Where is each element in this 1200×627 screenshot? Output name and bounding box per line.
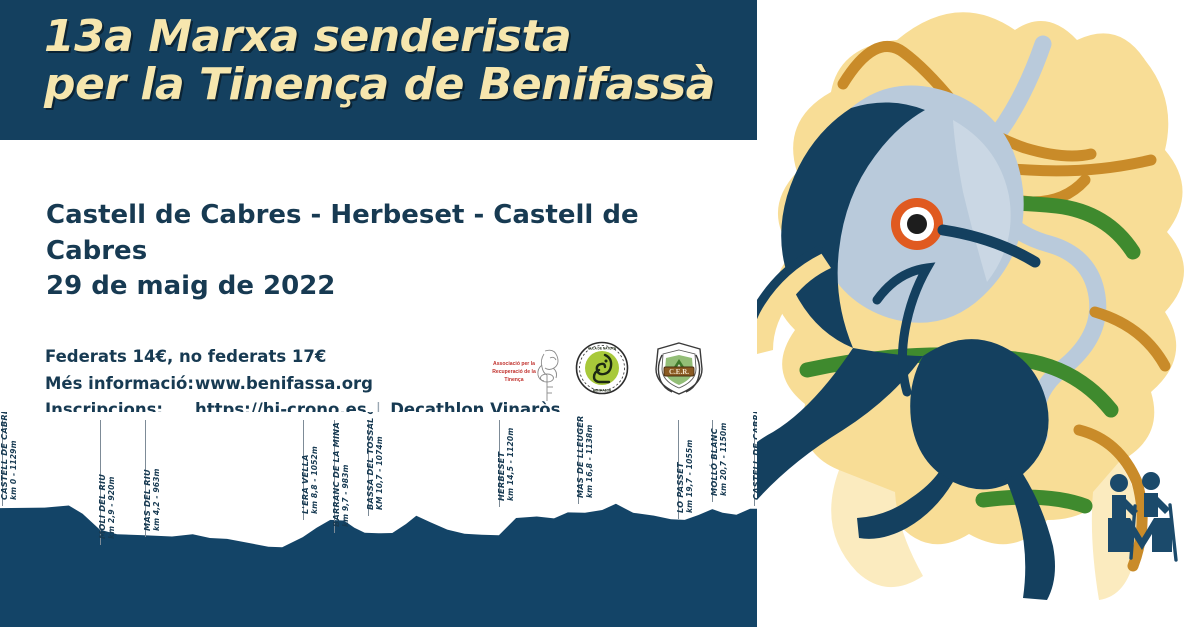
hikers-icon (1100, 468, 1186, 568)
event-date: 29 de maig de 2022 (46, 269, 706, 305)
logo-cer: C.E.R. (650, 339, 708, 397)
waypoint-distance-elevation: km 14,5 - 1120m (507, 428, 516, 501)
waypoint-label: BARRANC DE LA MINAkm 9,7 - 983m (332, 422, 351, 527)
waypoint-name: MOLI DEL RIU (98, 473, 108, 538)
logo-arbt-line-3: Tinença (504, 377, 523, 383)
waypoint-label: HERBESETkm 14,5 - 1120m (497, 428, 516, 501)
poster-root: 13a Marxa senderista per la Tinença de B… (0, 0, 1200, 627)
waypoint-label: BASSA DEL TOSSAL GROSKM 10,7 - 1074m (366, 412, 385, 510)
waypoint-distance-elevation: km 4,2 - 963m (152, 468, 161, 531)
waypoint-label: L'ERA VELLAkm 8,8 - 1052m (301, 446, 320, 514)
sponsor-logos: Associació per la Recuperació de la Tine… (487, 337, 717, 407)
page-title: 13a Marxa senderista per la Tinença de B… (44, 14, 744, 108)
waypoint-label: MOLLÓ BLANCkm 20,7 - 1150m (710, 422, 729, 495)
waypoint-distance-elevation: km 8,8 - 1052m (310, 446, 319, 514)
waypoint-distance-elevation: km 16,8 - 1138m (586, 415, 595, 498)
more-info-row: Més informació:www.benifassa.org (45, 371, 505, 398)
waypoint-label: MAS DEL RIUkm 4,2 - 963m (143, 468, 162, 531)
more-info-label: Més informació: (45, 371, 195, 398)
title-line-1: 13a Marxa senderista (44, 14, 744, 60)
waypoint-distance-elevation: km 20,7 - 1150m (720, 422, 729, 495)
cer-shield-icon: C.E.R. (650, 339, 708, 397)
waypoint-distance-elevation: km 19,7 - 1055m (686, 440, 695, 513)
svg-text:AULA DE NATURA: AULA DE NATURA (588, 347, 617, 351)
waypoint-name: MAS DEL RIU (143, 468, 153, 531)
svg-text:BENIFASSÀ: BENIFASSÀ (593, 387, 612, 392)
waypoint-distance-elevation: km 2,9 - 920m (107, 473, 116, 538)
fees-row: Federats 14€, no federats 17€ (45, 344, 505, 371)
logo-arbt-text: Associació per la Recuperació de la Tine… (487, 361, 541, 385)
waypoint-label: CASTELL DE CABRESkm 0 - 1129m (0, 412, 19, 500)
waypoint-name: BARRANC DE LA MINA (332, 422, 342, 527)
bird-eye-icon (891, 198, 943, 250)
event-route: Castell de Cabres - Herbeset - Castell d… (46, 198, 706, 269)
logo-aula-de-natura: AULA DE NATURA BENIFASSÀ (575, 341, 629, 395)
hikers-pictogram (1100, 468, 1186, 568)
waypoint-label: MOLI DEL RIUkm 2,9 - 920m (98, 473, 117, 538)
logo-arbt-line-1: Associació per la (493, 361, 535, 367)
event-subtitle: Castell de Cabres - Herbeset - Castell d… (46, 198, 706, 305)
waypoint-label: LO PASSETkm 19,7 - 1055m (676, 440, 695, 513)
elevation-profile-chart: CASTELL DE CABRESkm 0 - 1129mMOLI DEL RI… (0, 412, 757, 627)
more-info-link[interactable]: www.benifassa.org (195, 374, 373, 393)
waypoint-distance-elevation: km 0 - 1129m (10, 412, 19, 500)
bird-illustration (757, 0, 1200, 627)
waypoint-label: MAS DE LLEUGERkm 16,8 - 1138m (576, 415, 595, 498)
title-line-2: per la Tinença de Benifassà (44, 62, 744, 108)
left-info-panel: 13a Marxa senderista per la Tinença de B… (0, 0, 757, 627)
waypoint-distance-elevation: KM 10,7 - 1074m (376, 412, 385, 510)
logo-arbt-line-2: Recuperació de la (492, 369, 536, 375)
svg-text:C.E.R.: C.E.R. (669, 368, 689, 376)
waypoint-distance-elevation: km 9,7 - 983m (341, 422, 350, 527)
title-band: 13a Marxa senderista per la Tinença de B… (0, 0, 757, 140)
squirrel-circle-icon: AULA DE NATURA BENIFASSÀ (575, 341, 629, 395)
logo-associacio-recuperacio-tinenca: Associació per la Recuperació de la Tine… (487, 345, 565, 403)
